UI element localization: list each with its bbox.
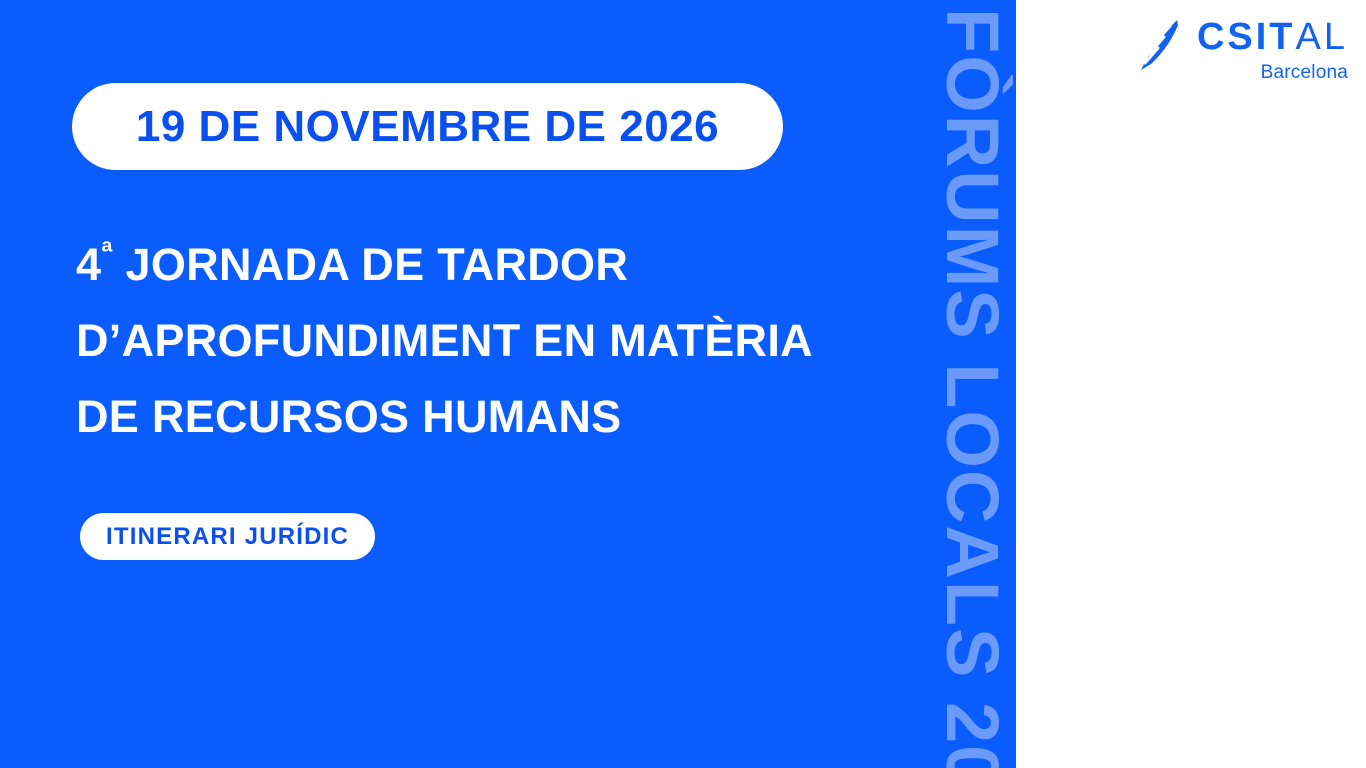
title-line-3: DE RECURSOS HUMANS (76, 379, 976, 455)
itinerary-badge: ITINERARI JURÍDIC (80, 513, 375, 560)
quill-pen-icon (1137, 18, 1183, 72)
logo-subtitle: Barcelona (1261, 63, 1348, 82)
title-line-2-text: D’APROFUNDIMENT EN MATÈRIA (76, 315, 813, 366)
title-line-1: 4ª JORNADA DE TARDOR (76, 215, 976, 303)
logo-wordmark-group: CSITAL Barcelona (1197, 18, 1348, 82)
logo-wordmark-bold: CSIT (1197, 16, 1296, 58)
title-line-1-text: 4ª JORNADA DE TARDOR (76, 239, 628, 290)
itinerary-badge-label: ITINERARI JURÍDIC (106, 525, 349, 549)
page-title: 4ª JORNADA DE TARDOR D’APROFUNDIMENT EN … (76, 215, 976, 455)
title-line-3-text: DE RECURSOS HUMANS (76, 391, 621, 442)
logo-wordmark: CSITAL (1197, 18, 1348, 56)
title-line-2: D’APROFUNDIMENT EN MATÈRIA (76, 303, 976, 379)
logo-wordmark-light: AL (1296, 16, 1348, 58)
poster-canvas: 19 DE NOVEMBRE DE 2026 4ª JORNADA DE TAR… (0, 0, 1366, 768)
date-badge-label: 19 DE NOVEMBRE DE 2026 (136, 105, 719, 149)
date-badge: 19 DE NOVEMBRE DE 2026 (72, 83, 783, 170)
csital-logo: CSITAL Barcelona (1137, 18, 1348, 82)
side-rail (1016, 0, 1366, 768)
